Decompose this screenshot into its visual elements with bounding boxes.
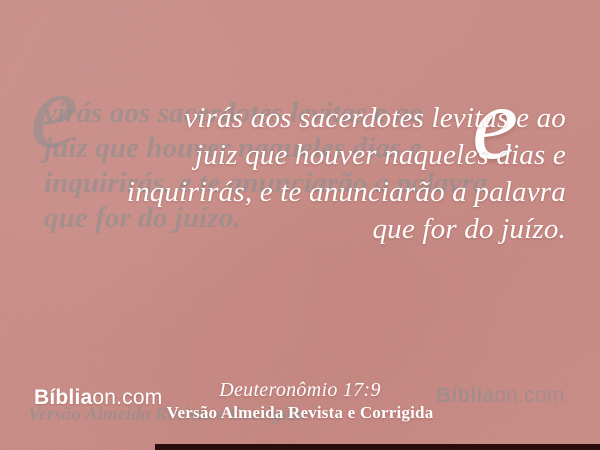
bible-version-label: Versão Almeida Revista e Corrigida (0, 402, 600, 424)
verse-line-4: que for do juízo. (26, 211, 566, 248)
bottom-accent-strip (155, 444, 600, 450)
verse-reference: Deuteronômio 17:9 (0, 378, 600, 402)
verse-line-1: virás aos sacerdotes levitas e ao (26, 100, 566, 137)
verse-reference-block: Deuteronômio 17:9 Versão Almeida Revista… (0, 378, 600, 424)
verse-line-3: inquirirás, e te anunciarão a palavra (26, 174, 566, 211)
verse-card: e virás aos sacerdotes levitas e ao juiz… (0, 0, 600, 450)
verse-line-2: juiz que houver naqueles dias e (26, 137, 566, 174)
verse-text: virás aos sacerdotes levitas e ao juiz q… (26, 100, 566, 248)
